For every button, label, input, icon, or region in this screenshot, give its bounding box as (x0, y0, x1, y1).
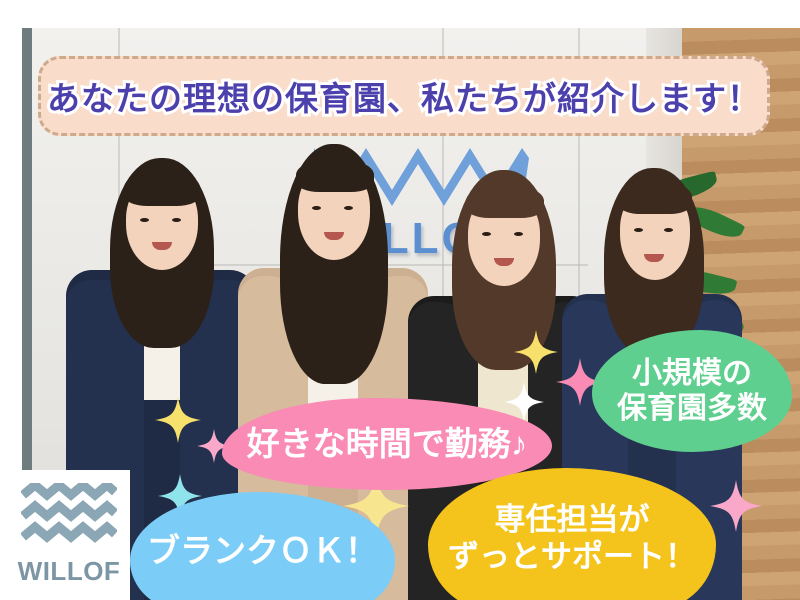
sparkle-icon (155, 397, 201, 443)
bubble-small-nursery: 小規模の 保育園多数 (592, 330, 792, 452)
bubble-line: 保育園多数 (617, 391, 767, 426)
bubble-line: ブランクＯＫ！ (147, 532, 378, 571)
sparkle-icon (514, 330, 558, 374)
bubble-line: 専任担当が (495, 502, 650, 539)
headline-text: あなたの理想の保育園、私たちが紹介します！ (47, 72, 761, 120)
bubble-line: 小規模の (632, 356, 752, 391)
headline-banner: あなたの理想の保育園、私たちが紹介します！ (38, 56, 770, 136)
ad-banner: WILLOF (0, 0, 800, 600)
bubble-line: 好きな時間で勤務♪ (247, 425, 528, 464)
willof-logo-wordmark: WILLOF (18, 556, 121, 587)
bubble-line: ずっとサポート！ (448, 539, 696, 576)
willof-wave-icon (21, 483, 117, 550)
sparkle-icon (710, 480, 762, 532)
willof-logo-badge: WILLOF (8, 470, 130, 600)
